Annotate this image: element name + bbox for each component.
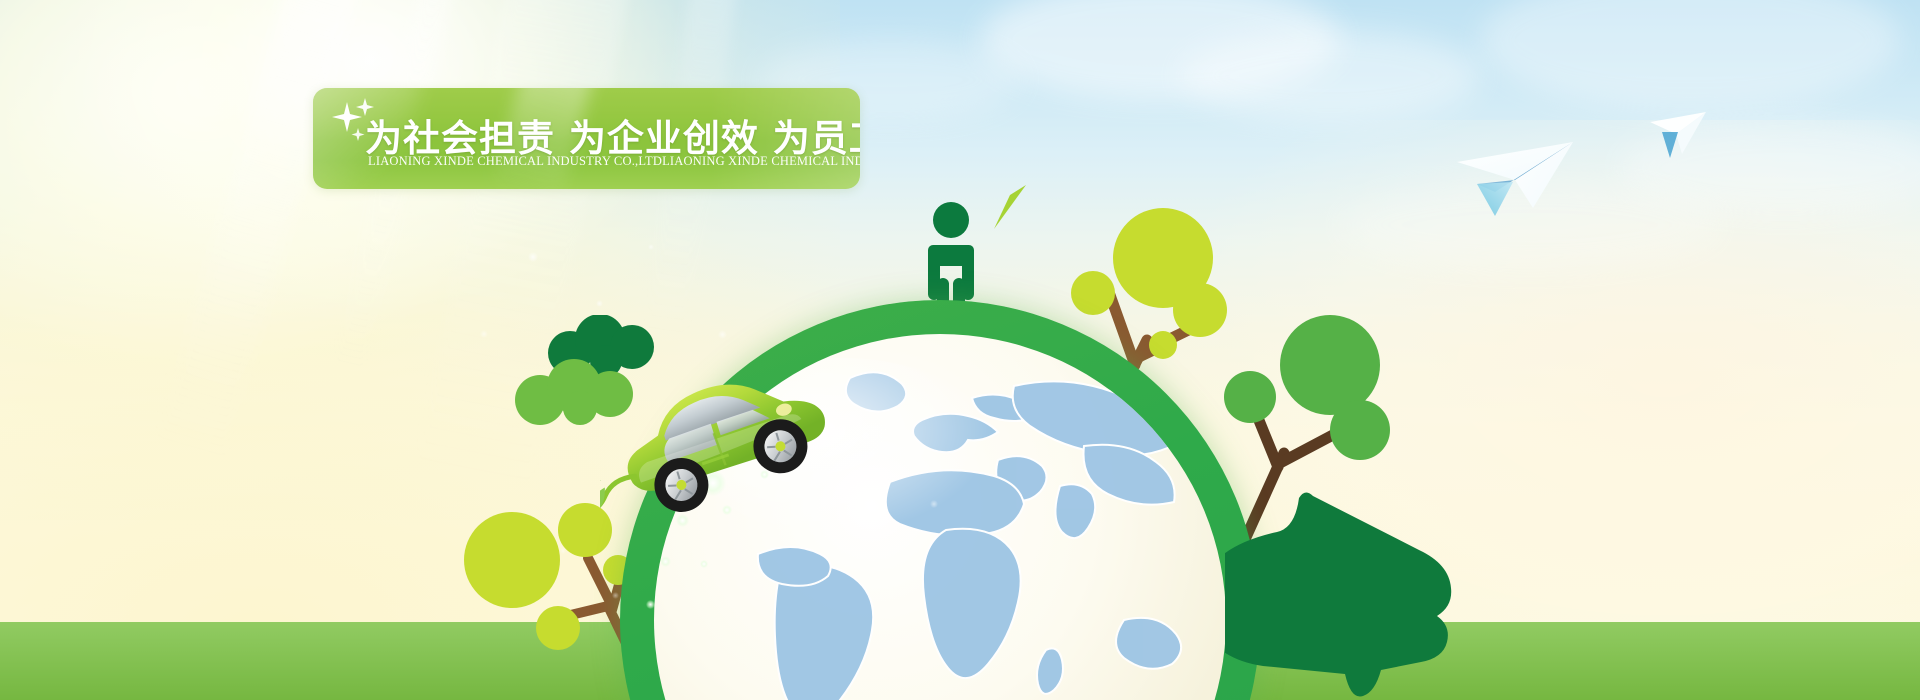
electric-car-icon: [600, 372, 840, 522]
paper-plane-large-icon: [1455, 130, 1585, 220]
leaf-arrow-icon: [1225, 480, 1525, 700]
title-plaque: 为社会担责 为企业创效 为员工造福 LIAONING XINDE CHEMICA…: [313, 88, 860, 189]
paper-plane-small-icon: [1648, 108, 1710, 160]
eco-banner: 为社会担责 为企业创效 为员工造福 LIAONING XINDE CHEMICA…: [0, 0, 1920, 700]
globe-warm-landmass: [1177, 404, 1222, 508]
plaque-subline: LIAONING XINDE CHEMICAL INDUSTRY CO.,LTD…: [368, 154, 860, 169]
lime-wedge-accent: [988, 185, 1028, 240]
